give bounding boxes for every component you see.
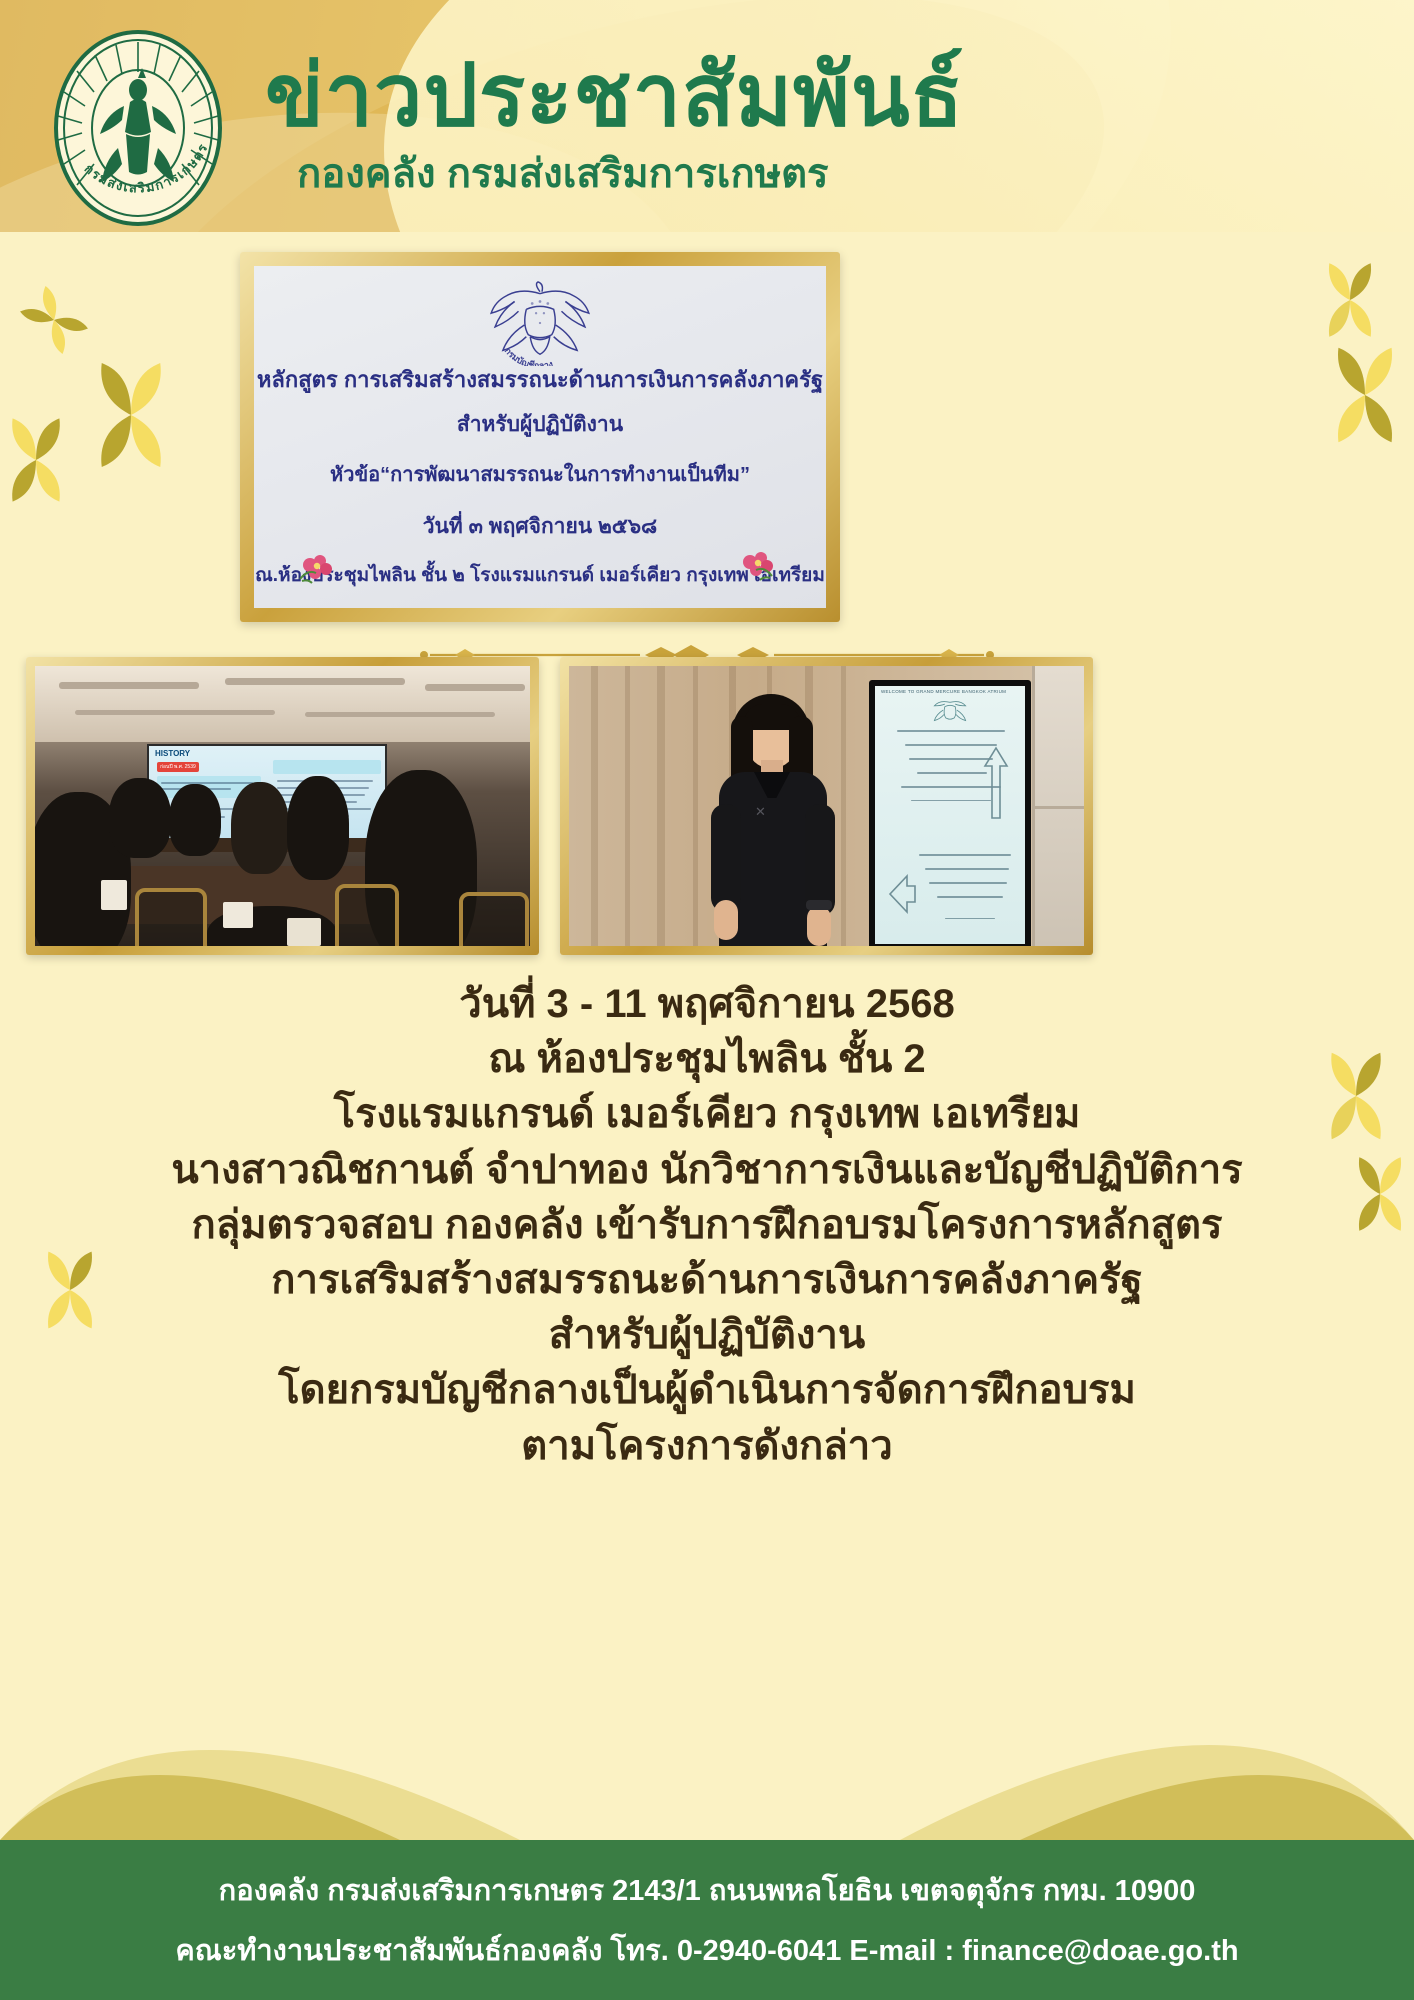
page-footer: กองคลัง กรมส่งเสริมการเกษตร 2143/1 ถนนพห… xyxy=(0,1840,1414,2000)
flower-decoration xyxy=(22,1242,118,1343)
flower-decoration xyxy=(1306,336,1414,459)
page-body: กรมบัญชีกลาง หลักสูตร การเสริมสร้างสมรรถ… xyxy=(0,232,1414,1840)
shirt-logo-icon: ✕ xyxy=(755,806,767,818)
caption-line: ตามโครงการดังกล่าว xyxy=(0,1419,1414,1474)
slide-line-4: วันที่ ๓ พฤศจิกายน ๒๕๖๘ xyxy=(254,510,826,543)
page-header: กรมส่งเสริมการเกษตร ข่าวประชาสัมพันธ์ กอ… xyxy=(0,0,1414,232)
footer-address: กองคลัง กรมส่งเสริมการเกษตร 2143/1 ถนนพห… xyxy=(219,1867,1196,1913)
slide-flower-left-icon xyxy=(296,551,342,590)
slide-line-1: หลักสูตร การเสริมสร้างสมรรถนะด้านการเงิน… xyxy=(254,362,826,397)
screen-badge: ก่อนปี พ.ศ. 2539 xyxy=(157,762,199,772)
caption-line: วันที่ 3 - 11 พฤศจิกายน 2568 xyxy=(0,977,1414,1032)
flower-decoration xyxy=(1302,1042,1410,1155)
caption-line: สำหรับผู้ปฏิบัติงาน xyxy=(0,1308,1414,1363)
caption-line: โดยกรมบัญชีกลางเป็นผู้ดำเนินการจัดการฝึก… xyxy=(0,1363,1414,1418)
hero-slide-photo: กรมบัญชีกลาง หลักสูตร การเสริมสร้างสมรรถ… xyxy=(240,252,840,622)
cgd-garuda-logo-icon: กรมบัญชีกลาง xyxy=(481,280,599,366)
page-title: ข่าวประชาสัมพันธ์ xyxy=(265,48,1265,144)
flower-decoration xyxy=(0,408,88,517)
up-arrow-icon xyxy=(983,744,1009,822)
photo-gallery: HISTORY ก่อนปี พ.ศ. 2539 xyxy=(0,657,1414,957)
bottom-wave-decoration xyxy=(0,1510,1414,1840)
attendee-figure: ✕ xyxy=(697,694,851,946)
caption-block: วันที่ 3 - 11 พฤศจิกายน 2568 ณ ห้องประชุ… xyxy=(0,977,1414,1474)
cgd-garuda-logo-icon xyxy=(932,698,968,724)
display-header: WELCOME TO GRAND MERCURE BANGKOK ATRIUM xyxy=(881,689,1006,694)
flower-decoration xyxy=(1334,1148,1414,1245)
caption-line: กลุ่มตรวจสอบ กองคลัง เข้ารับการฝึกอบรมโค… xyxy=(0,1198,1414,1253)
slide-line-3: หัวข้อ“การพัฒนาสมรรถนะในการทำงานเป็นทีม” xyxy=(254,458,826,490)
caption-line: ณ ห้องประชุมไพลิน ชั้น 2 xyxy=(0,1032,1414,1087)
meeting-room-photo: HISTORY ก่อนปี พ.ศ. 2539 xyxy=(26,657,539,955)
caption-line: โรงแรมแกรนด์ เมอร์เคียว กรุงเทพ เอเทรียม xyxy=(0,1087,1414,1142)
screen-title: HISTORY xyxy=(155,749,190,758)
slide-line-2: สำหรับผู้ปฏิบัติงาน xyxy=(254,408,826,441)
left-arrow-icon xyxy=(887,868,917,920)
attendee-with-display-photo: WELCOME TO GRAND MERCURE BANGKOK ATRIUM xyxy=(560,657,1093,955)
caption-line: การเสริมสร้างสมรรถนะด้านการเงินการคลังภา… xyxy=(0,1253,1414,1308)
caption-line: นางสาวณิชกานต์ จำปาทอง นักวิชาการเงินและ… xyxy=(0,1143,1414,1198)
footer-contact: คณะทำงานประชาสัมพันธ์กองคลัง โทร. 0-2940… xyxy=(175,1927,1238,1973)
digital-signage-display: WELCOME TO GRAND MERCURE BANGKOK ATRIUM xyxy=(869,680,1031,946)
slide-flower-right-icon xyxy=(734,549,780,588)
header-text-group: ข่าวประชาสัมพันธ์ กองคลัง กรมส่งเสริมการ… xyxy=(265,48,1265,200)
page-subtitle: กองคลัง กรมส่งเสริมการเกษตร xyxy=(265,148,1265,200)
doae-garuda-seal-icon: กรมส่งเสริมการเกษตร xyxy=(38,28,238,228)
